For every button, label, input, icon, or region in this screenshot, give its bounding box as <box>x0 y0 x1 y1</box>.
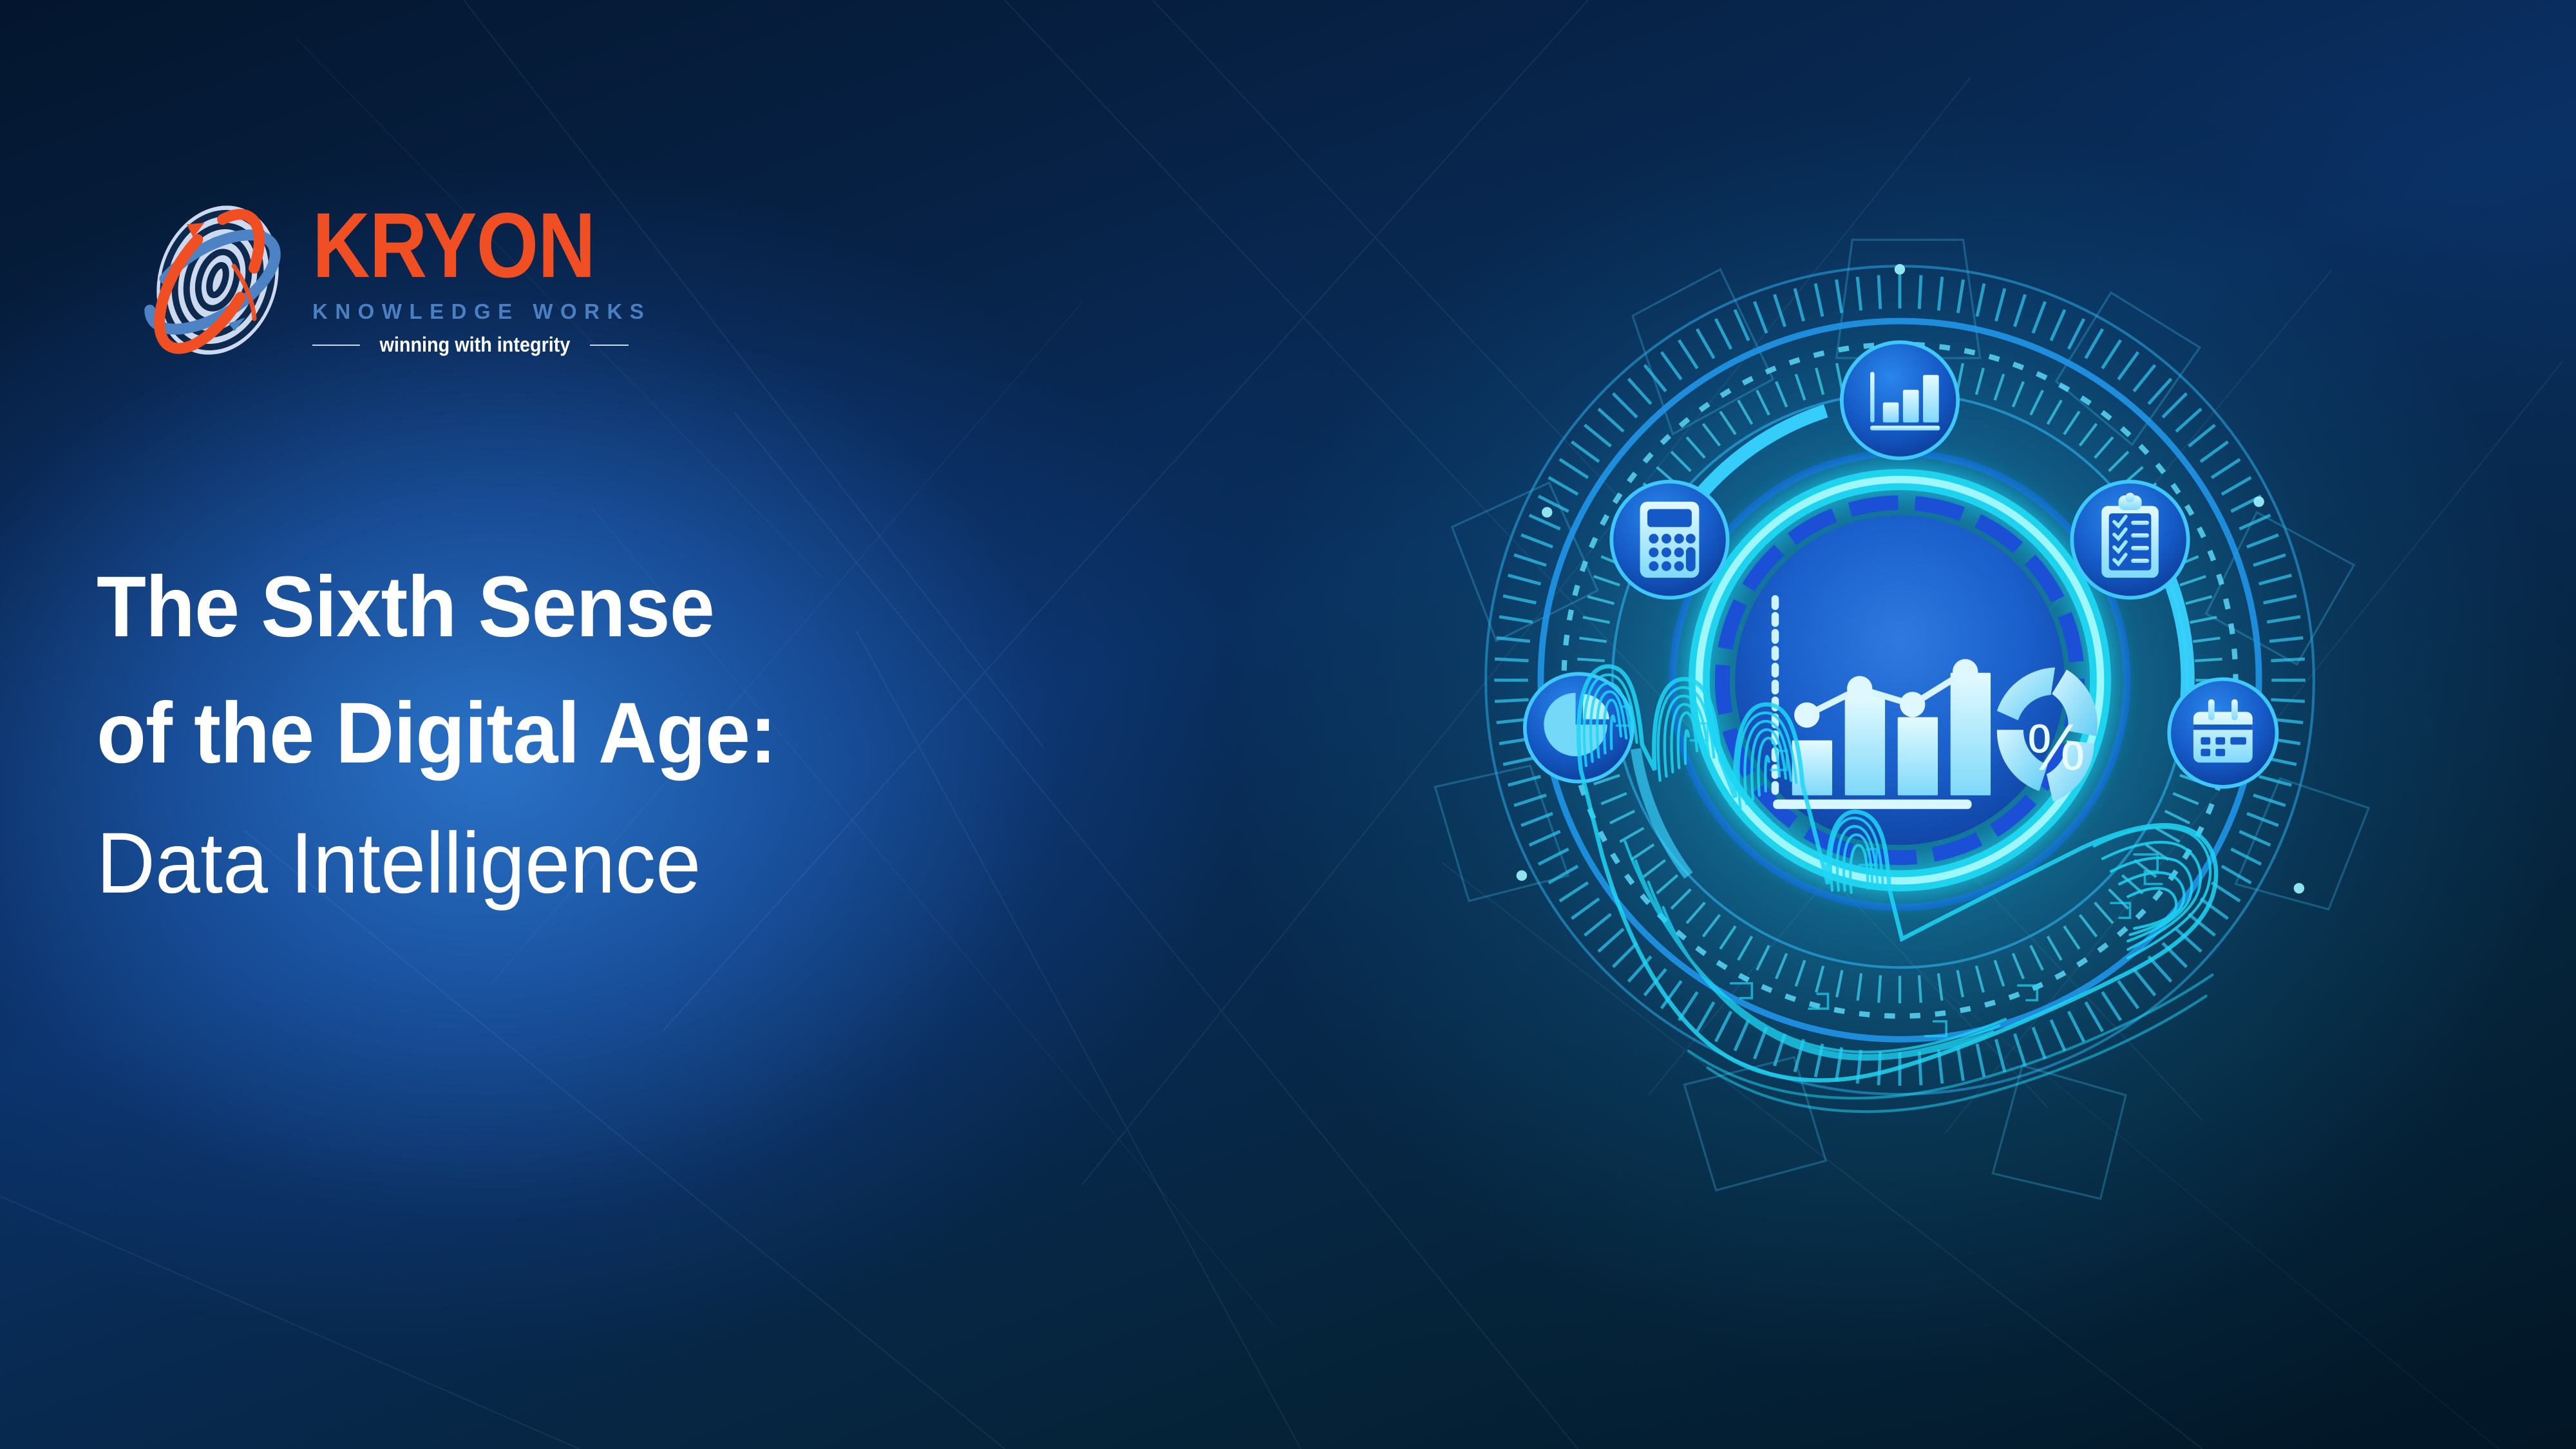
headline-block: The Sixth Sense of the Digital Age: Data… <box>97 544 1320 928</box>
kryon-subtitle: KNOWLEDGE WORKS <box>312 299 651 324</box>
satellite-clipboard <box>2072 482 2188 598</box>
headline-line-1: The Sixth Sense <box>97 544 1247 670</box>
headline-line-2: of the Digital Age: <box>97 670 1247 797</box>
satellite-bar-chart <box>1842 342 1958 458</box>
satellite-calendar <box>2169 679 2277 787</box>
tagline-rule-right <box>590 345 629 346</box>
kryon-tagline: winning with integrity <box>379 333 570 357</box>
banner-root: KRYON KNOWLEDGE WORKS winning with integ… <box>0 0 2576 1449</box>
central-analytics-hub: % <box>1672 453 2126 907</box>
satellite-calculator <box>1611 482 1727 598</box>
kryon-logo-text: KRYON KNOWLEDGE WORKS winning with integ… <box>312 207 651 357</box>
kryon-wordmark: KRYON <box>312 202 641 290</box>
headline-line-3: Data Intelligence <box>97 799 1247 928</box>
kryon-globe-orbit-icon <box>132 196 293 367</box>
svg-text:%: % <box>2027 711 2085 784</box>
data-intelligence-hud-graphic: % <box>1372 200 2428 1256</box>
tagline-rule-left <box>312 345 360 346</box>
kryon-tagline-row: winning with integrity <box>312 333 651 357</box>
hub-axis-x <box>1773 800 1971 810</box>
kryon-logo[interactable]: KRYON KNOWLEDGE WORKS winning with integ… <box>132 196 651 367</box>
